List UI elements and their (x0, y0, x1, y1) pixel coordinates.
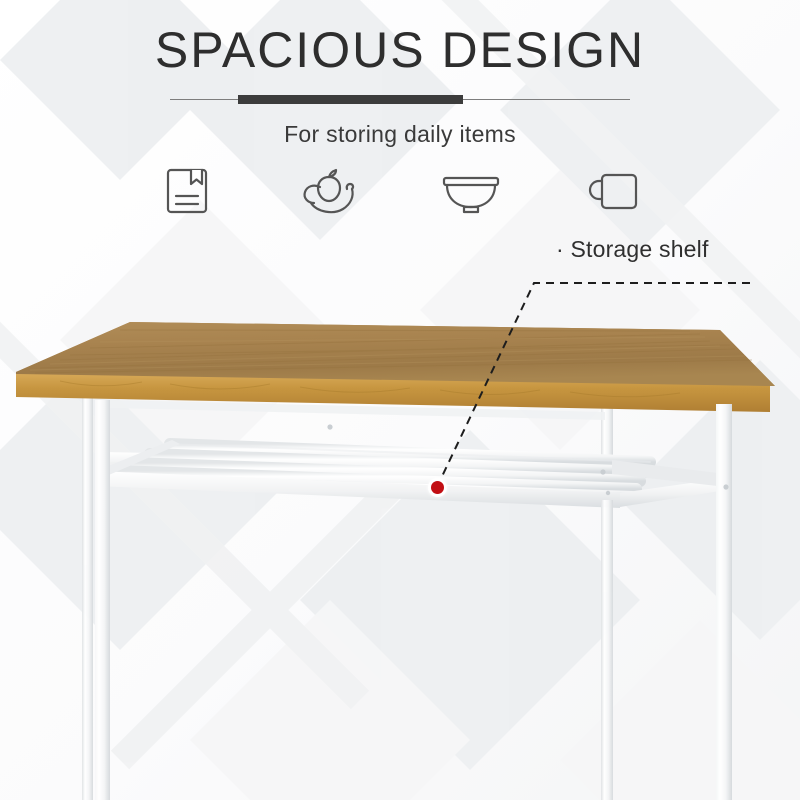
bowl-icon (439, 163, 503, 219)
feature-icon-row (0, 163, 800, 219)
leg-back-right-lower (601, 500, 613, 800)
mug-icon (581, 163, 645, 219)
header: SPACIOUS DESIGN For storing daily items (0, 0, 800, 148)
page-title: SPACIOUS DESIGN (0, 0, 800, 77)
fruit-icon (297, 163, 361, 219)
page-subtitle: For storing daily items (0, 121, 800, 148)
book-icon (155, 163, 219, 219)
leg-back-left-lower (82, 470, 93, 800)
divider-thick-bar (238, 95, 463, 104)
marketing-banner: SPACIOUS DESIGN For storing daily items (0, 0, 800, 800)
leg-front-left (95, 400, 110, 800)
leg-front-right (716, 404, 732, 800)
title-divider (170, 93, 630, 107)
